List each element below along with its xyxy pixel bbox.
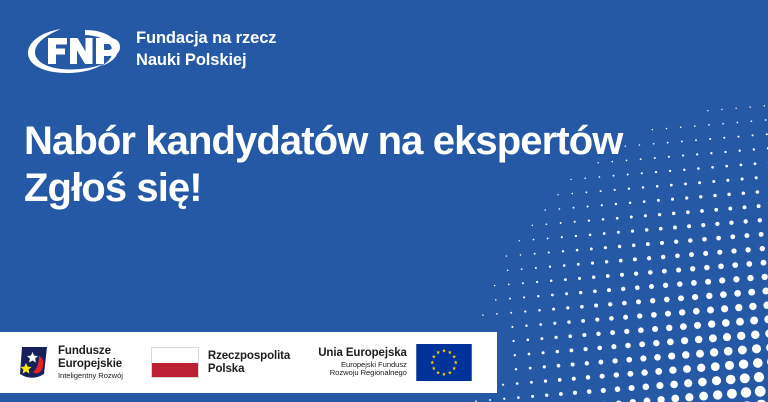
headline-line-1: Nabór kandydatów na ekspertów: [24, 118, 623, 165]
headline: Nabór kandydatów na ekspertów Zgłoś się!: [24, 118, 623, 212]
fundusze-europejskie-emblem-icon: [16, 345, 50, 381]
eu-title: Unia Europejska: [318, 347, 407, 360]
flag-stripe-white: [152, 348, 198, 363]
logo-rzeczpospolita-polska: Rzeczpospolita Polska: [151, 332, 290, 393]
eu-subtitle: Europejski Fundusz Rozwoju Regionalnego: [318, 361, 407, 378]
promo-banner: Fundacja na rzecz Nauki Polskiej Nabór k…: [0, 0, 768, 402]
fnp-tagline: Fundacja na rzecz Nauki Polskiej: [136, 28, 276, 72]
rp-caption: Rzeczpospolita Polska: [208, 350, 290, 376]
fe-caption: Fundusze Europejskie Inteligentny Rozwój: [58, 345, 123, 380]
fnp-logo-block: Fundacja na rzecz Nauki Polskiej: [26, 24, 276, 76]
fe-title: Fundusze Europejskie: [58, 345, 123, 371]
flag-stripe-red: [152, 363, 198, 378]
eu-flag-icon: [416, 344, 472, 381]
fe-subtitle: Inteligentny Rozwój: [58, 372, 123, 381]
poland-flag-icon: [151, 347, 199, 378]
eu-caption: Unia Europejska Europejski Fundusz Rozwo…: [318, 347, 407, 378]
rp-title: Rzeczpospolita Polska: [208, 350, 290, 376]
logo-unia-europejska: Unia Europejska Europejski Fundusz Rozwo…: [318, 332, 472, 393]
fnp-logo-icon: [26, 24, 122, 76]
logo-fundusze-europejskie: Fundusze Europejskie Inteligentny Rozwój: [16, 332, 123, 393]
headline-line-2: Zgłoś się!: [24, 165, 623, 212]
footer-logo-band: Fundusze Europejskie Inteligentny Rozwój…: [0, 332, 497, 393]
